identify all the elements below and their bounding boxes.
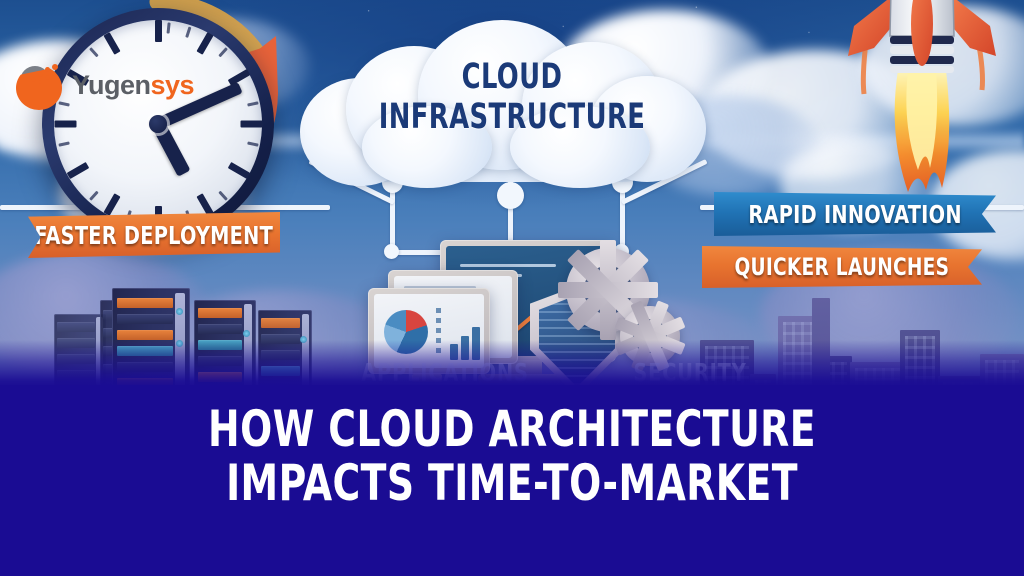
ribbon-rapid-innovation: RAPID INNOVATION [714, 192, 996, 236]
ribbon-label: QUICKER LAUNCHES [735, 253, 950, 281]
ribbon-label: FASTER DEPLOYMENT [35, 221, 274, 250]
ribbon-faster-deployment: FASTER DEPLOYMENT [28, 212, 280, 258]
page-title-line2: IMPACTS TIME-TO-MARKET [82, 456, 942, 510]
logo-text-primary: Yugen [72, 70, 151, 100]
hero-banner: CLOUD INFRASTRUCTURE [0, 0, 1024, 576]
logo[interactable]: Yugensys [14, 58, 194, 112]
page-title: HOW CLOUD ARCHITECTURE IMPACTS TIME-TO-M… [0, 402, 1024, 510]
yugensys-swoosh-mark [14, 58, 68, 112]
band-gradient-overlay [0, 340, 1024, 388]
page-title-line1: HOW CLOUD ARCHITECTURE [82, 402, 942, 456]
stopwatch-clock-icon [42, 8, 274, 240]
logo-text-accent: sys [151, 70, 195, 100]
ribbon-label: RAPID INNOVATION [748, 200, 961, 229]
logo-wordmark: Yugensys [72, 70, 194, 101]
ribbon-quicker-launches: QUICKER LAUNCHES [702, 246, 982, 288]
